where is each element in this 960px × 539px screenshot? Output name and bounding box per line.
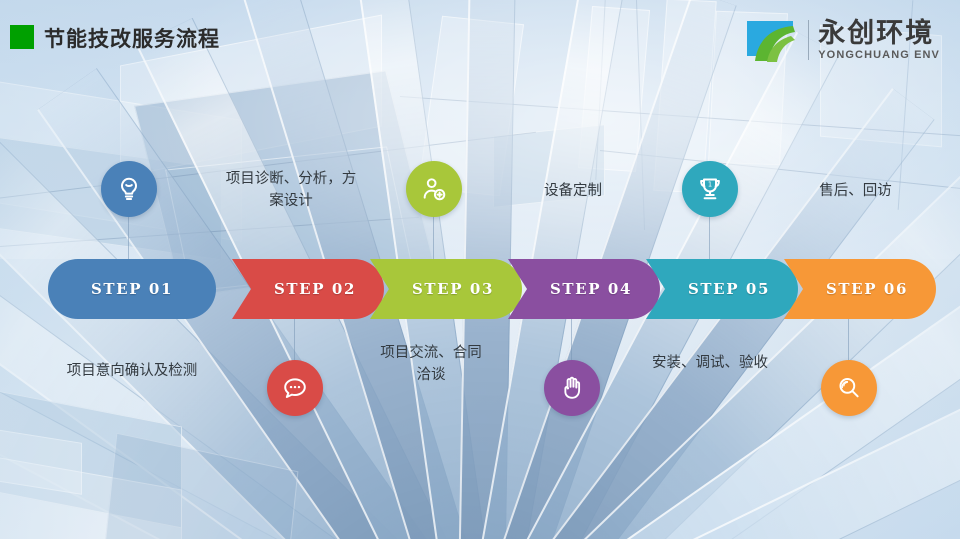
step-label-05: STEP 05: [674, 280, 770, 298]
step-chip-03[interactable]: STEP 03: [370, 259, 522, 319]
step-label-01: STEP 01: [91, 280, 173, 298]
step-label-03: STEP 03: [398, 280, 494, 298]
step-chip-04[interactable]: STEP 04: [508, 259, 660, 319]
process-step-ribbon: STEP 01 STEP 02 STEP 03 STEP 04 STEP 05 …: [0, 259, 960, 319]
logo-divider: [808, 20, 809, 60]
page-title: 节能技改服务流程: [44, 23, 220, 53]
lightbulb-icon: [115, 175, 143, 203]
connector-stem-2: [294, 318, 295, 360]
slide-canvas: 节能技改服务流程 永创环境 YONGCHUANG ENV STEP 01: [0, 0, 960, 539]
step-icon-bubble-05[interactable]: 1: [682, 161, 738, 217]
chat-bubble-icon: [281, 374, 309, 402]
step-icon-bubble-04[interactable]: [544, 360, 600, 416]
step-caption-03: 项目交流、合同 洽谈: [346, 342, 516, 387]
header-accent-square: [10, 25, 34, 49]
slide-header: 节能技改服务流程 永创环境 YONGCHUANG ENV: [0, 0, 960, 62]
svg-text:1: 1: [708, 181, 712, 189]
step-chip-02[interactable]: STEP 02: [232, 259, 384, 319]
step-icon-bubble-01[interactable]: [101, 161, 157, 217]
connector-stem-5: [709, 216, 710, 261]
trophy-icon: 1: [695, 174, 725, 204]
step-label-06: STEP 06: [812, 280, 908, 298]
step-caption-02: 项目诊断、分析，方 案设计: [196, 168, 386, 213]
step-label-02: STEP 02: [260, 280, 356, 298]
step-label-04: STEP 04: [536, 280, 632, 298]
hand-icon: [558, 374, 586, 402]
logo-swoosh-icon: [743, 16, 799, 64]
step-caption-04: 设备定制: [508, 180, 638, 202]
logo-name-en: YONGCHUANG ENV: [818, 50, 940, 61]
step-caption-05: 安装、调试、验收: [620, 352, 800, 374]
step-icon-bubble-03[interactable]: [406, 161, 462, 217]
step-chip-05[interactable]: STEP 05: [646, 259, 798, 319]
connector-stem-6: [848, 318, 849, 360]
connector-stem-3: [433, 216, 434, 261]
step-chip-01[interactable]: STEP 01: [48, 259, 216, 319]
step-icon-bubble-02[interactable]: [267, 360, 323, 416]
logo-name-cn: 永创环境: [818, 20, 940, 47]
step-icon-bubble-06[interactable]: [821, 360, 877, 416]
step-chip-06[interactable]: STEP 06: [784, 259, 936, 319]
connector-stem-4: [571, 318, 572, 360]
company-logo: 永创环境 YONGCHUANG ENV: [743, 16, 940, 64]
step-caption-06: 售后、回访: [788, 180, 923, 202]
search-icon: [835, 374, 863, 402]
add-user-icon: [420, 175, 448, 203]
step-caption-01: 项目意向确认及检测: [32, 360, 232, 382]
connector-stem-1: [128, 216, 129, 261]
